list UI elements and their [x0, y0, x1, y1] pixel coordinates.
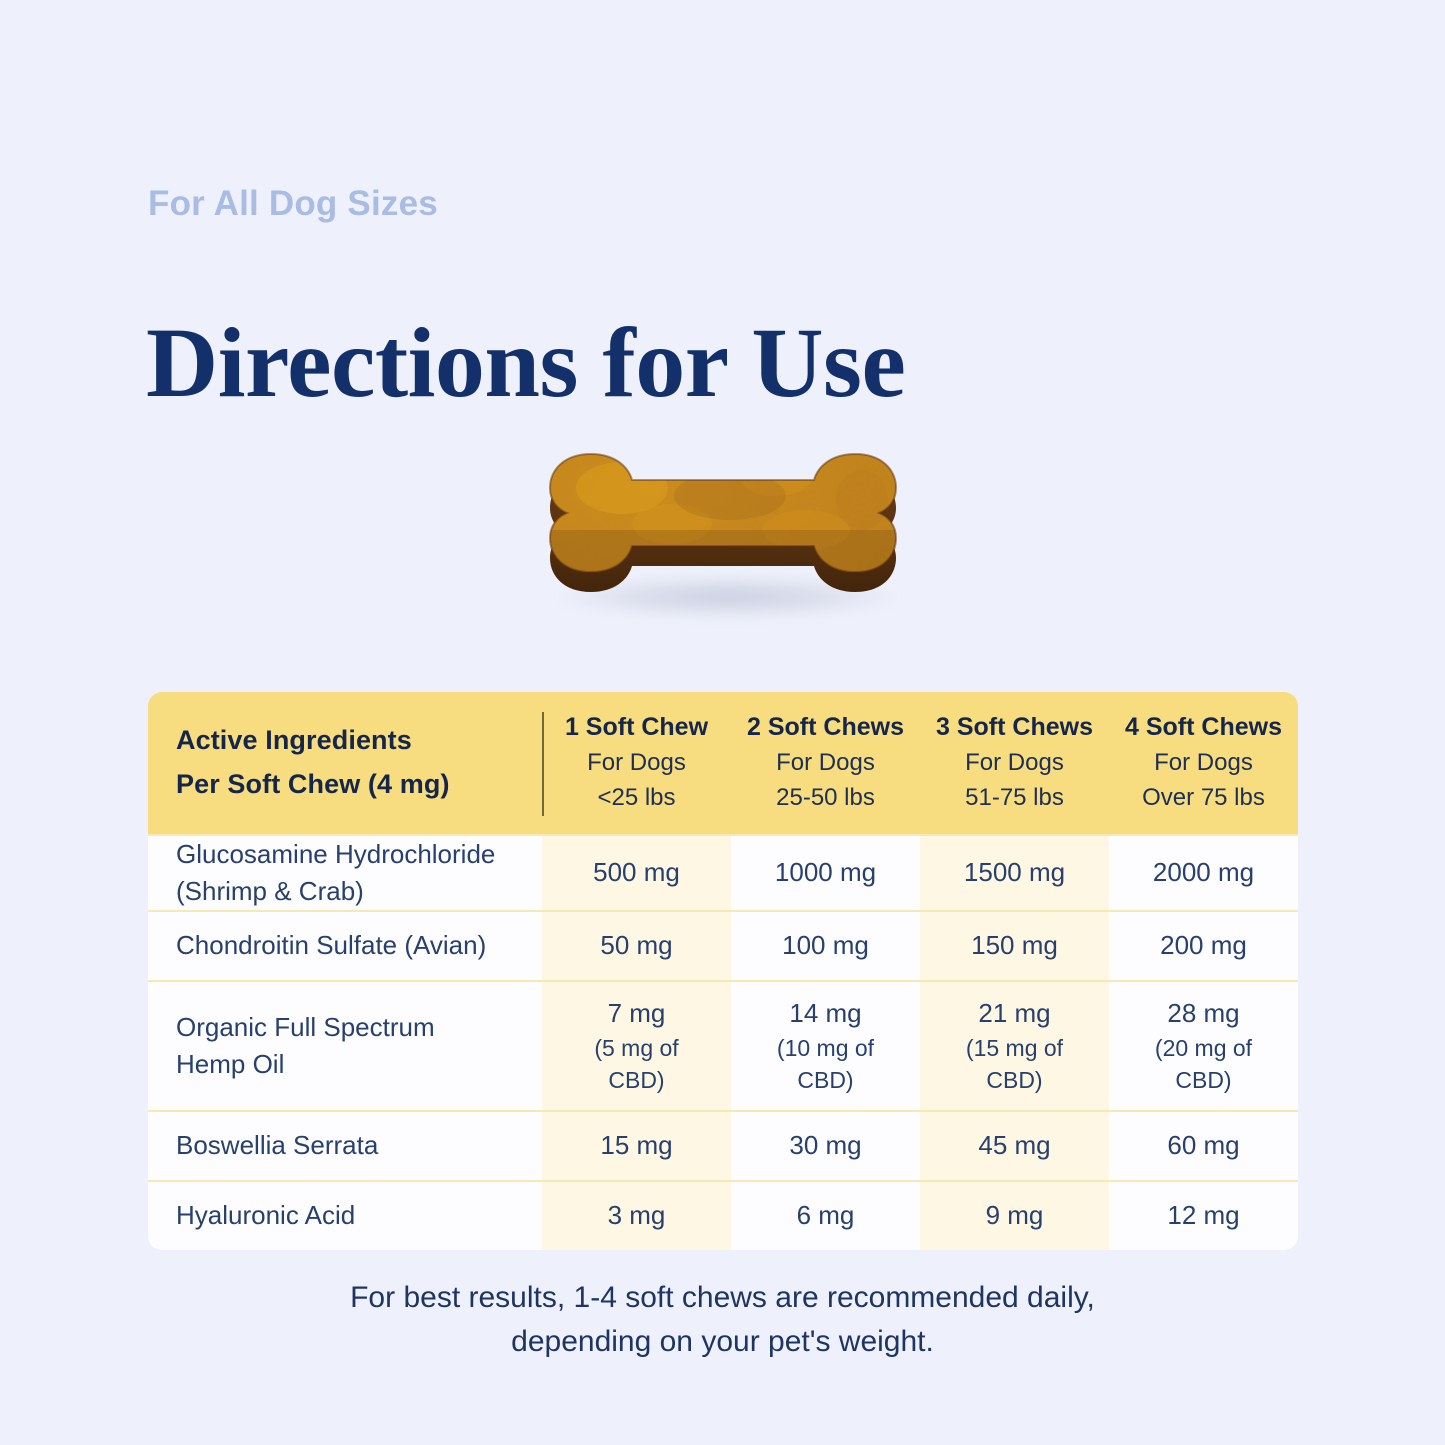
row-ingredient-name: Boswellia Serrata [148, 1112, 542, 1180]
cell-value: 150 mg [971, 927, 1058, 964]
cell-value: 6 mg [797, 1197, 855, 1234]
row-cell-3: 9 mg [920, 1182, 1109, 1250]
header-count-3: 3 Soft Chews [936, 709, 1093, 747]
header-line-1: Active Ingredients [176, 719, 542, 763]
cell-value: 21 mg [978, 995, 1050, 1032]
ingredient-line-1: Hyaluronic Acid [176, 1197, 530, 1234]
cell-value: 1000 mg [775, 854, 876, 891]
header-count-4: 4 Soft Chews [1125, 709, 1282, 747]
cell-value: 50 mg [600, 927, 672, 964]
row-cell-4: 200 mg [1109, 912, 1298, 980]
eyebrow-label: For All Dog Sizes [148, 183, 438, 225]
cell-value: 60 mg [1167, 1127, 1239, 1164]
cell-value: 14 mg [789, 995, 861, 1032]
table-header-col-3: 3 Soft Chews For Dogs 51-75 lbs [920, 692, 1109, 834]
header-sub2-2: 25-50 lbs [776, 781, 875, 816]
row-cell-2: 100 mg [731, 912, 920, 980]
ingredient-line-1: Boswellia Serrata [176, 1127, 530, 1164]
row-cell-3: 21 mg (15 mg of CBD) [920, 982, 1109, 1110]
row-cell-4: 12 mg [1109, 1182, 1298, 1250]
cell-value: 500 mg [593, 854, 680, 891]
cell-value: 3 mg [608, 1197, 666, 1234]
table-header-col-2: 2 Soft Chews For Dogs 25-50 lbs [731, 692, 920, 834]
cell-value: 30 mg [789, 1127, 861, 1164]
cell-value: 28 mg [1167, 995, 1239, 1032]
dog-bone-icon [544, 426, 902, 611]
ingredient-line-2: Hemp Oil [176, 1046, 530, 1083]
row-cell-4: 2000 mg [1109, 836, 1298, 910]
header-count-2: 2 Soft Chews [747, 709, 904, 747]
header-sub1-4: For Dogs [1154, 746, 1253, 781]
table-header-ingredients: Active Ingredients Per Soft Chew (4 mg) [148, 692, 542, 834]
table-row: Organic Full Spectrum Hemp Oil 7 mg (5 m… [148, 980, 1298, 1110]
table-row: Hyaluronic Acid 3 mg 6 mg 9 mg 12 mg [148, 1180, 1298, 1250]
row-cell-3: 45 mg [920, 1112, 1109, 1180]
table-row: Chondroitin Sulfate (Avian) 50 mg 100 mg… [148, 910, 1298, 980]
row-ingredient-name: Organic Full Spectrum Hemp Oil [148, 982, 542, 1110]
ingredient-line-1: Glucosamine Hydrochloride [176, 836, 530, 873]
table-header-row: Active Ingredients Per Soft Chew (4 mg) … [148, 692, 1298, 834]
table-body: Glucosamine Hydrochloride (Shrimp & Crab… [148, 834, 1298, 1250]
page-title: Directions for Use [146, 310, 905, 415]
ingredient-line-1: Organic Full Spectrum [176, 1009, 530, 1046]
cell-value: 7 mg [608, 995, 666, 1032]
soft-chew-illustration [520, 408, 940, 640]
header-divider [542, 712, 544, 816]
header-sub1-3: For Dogs [965, 746, 1064, 781]
cell-subvalue: (15 mg of CBD) [960, 1032, 1070, 1097]
table-row: Boswellia Serrata 15 mg 30 mg 45 mg 60 m… [148, 1110, 1298, 1180]
row-cell-3: 150 mg [920, 912, 1109, 980]
cell-value: 200 mg [1160, 927, 1247, 964]
cell-value: 2000 mg [1153, 854, 1254, 891]
row-cell-4: 28 mg (20 mg of CBD) [1109, 982, 1298, 1110]
cell-value: 9 mg [986, 1197, 1044, 1234]
row-cell-3: 1500 mg [920, 836, 1109, 910]
page-root: For All Dog Sizes Directions for Use [0, 0, 1445, 1445]
row-ingredient-name: Hyaluronic Acid [148, 1182, 542, 1250]
header-sub2-4: Over 75 lbs [1142, 781, 1265, 816]
cell-value: 45 mg [978, 1127, 1050, 1164]
row-cell-2: 14 mg (10 mg of CBD) [731, 982, 920, 1110]
row-ingredient-name: Glucosamine Hydrochloride (Shrimp & Crab… [148, 836, 542, 910]
header-sub2-3: 51-75 lbs [965, 781, 1064, 816]
row-cell-1: 3 mg [542, 1182, 731, 1250]
ingredient-line-2: (Shrimp & Crab) [176, 873, 530, 910]
row-ingredient-name: Chondroitin Sulfate (Avian) [148, 912, 542, 980]
footer-line-2: depending on your pet's weight. [0, 1320, 1445, 1364]
header-line-2: Per Soft Chew (4 mg) [176, 763, 542, 807]
row-cell-1: 500 mg [542, 836, 731, 910]
cell-value: 1500 mg [964, 854, 1065, 891]
row-cell-1: 50 mg [542, 912, 731, 980]
header-sub1-2: For Dogs [776, 746, 875, 781]
row-cell-1: 15 mg [542, 1112, 731, 1180]
row-cell-2: 1000 mg [731, 836, 920, 910]
row-cell-2: 30 mg [731, 1112, 920, 1180]
footer-note: For best results, 1-4 soft chews are rec… [0, 1276, 1445, 1365]
cell-subvalue: (10 mg of CBD) [771, 1032, 881, 1097]
row-cell-2: 6 mg [731, 1182, 920, 1250]
table-row: Glucosamine Hydrochloride (Shrimp & Crab… [148, 834, 1298, 910]
footer-line-1: For best results, 1-4 soft chews are rec… [0, 1276, 1445, 1320]
table-header-col-1: 1 Soft Chew For Dogs <25 lbs [542, 692, 731, 834]
cell-subvalue: (5 mg of CBD) [582, 1032, 692, 1097]
header-count-1: 1 Soft Chew [565, 709, 708, 747]
cell-subvalue: (20 mg of CBD) [1149, 1032, 1259, 1097]
cell-value: 100 mg [782, 927, 869, 964]
ingredient-line-1: Chondroitin Sulfate (Avian) [176, 927, 530, 964]
header-sub1-1: For Dogs [587, 746, 686, 781]
header-sub2-1: <25 lbs [597, 781, 675, 816]
table-header-col-4: 4 Soft Chews For Dogs Over 75 lbs [1109, 692, 1298, 834]
row-cell-4: 60 mg [1109, 1112, 1298, 1180]
cell-value: 15 mg [600, 1127, 672, 1164]
dosage-table: Active Ingredients Per Soft Chew (4 mg) … [148, 692, 1298, 1250]
cell-value: 12 mg [1167, 1197, 1239, 1234]
row-cell-1: 7 mg (5 mg of CBD) [542, 982, 731, 1110]
